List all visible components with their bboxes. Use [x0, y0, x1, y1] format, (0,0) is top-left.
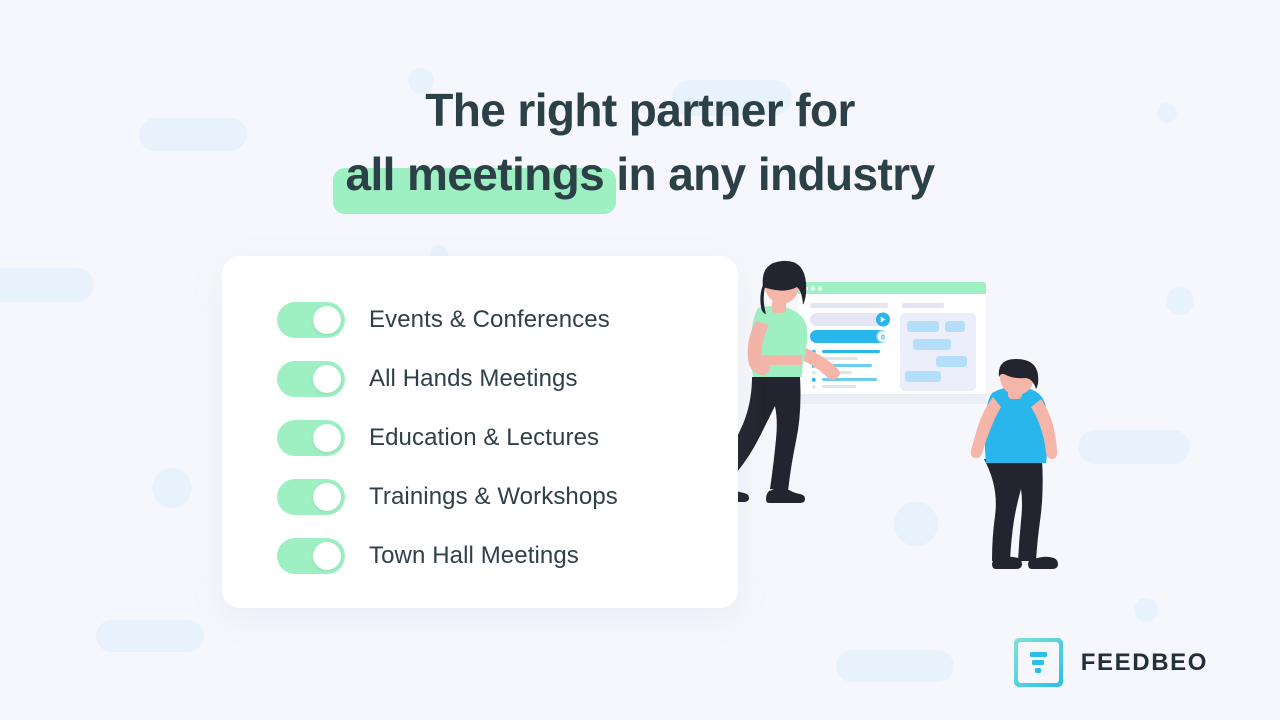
toggle-switch-trainings-workshops[interactable]	[277, 479, 345, 515]
list-item-label: Trainings & Workshops	[369, 483, 618, 511]
list-item-label: Town Hall Meetings	[369, 542, 579, 570]
mark-bar-middle	[1032, 660, 1044, 665]
toggle-knob	[313, 424, 341, 452]
list-item[interactable]: Town Hall Meetings	[222, 526, 738, 585]
list-item[interactable]: Events & Conferences	[222, 290, 738, 349]
headline-line-1: The right partner for	[0, 78, 1280, 142]
feedbeo-bars-icon	[1014, 638, 1063, 687]
headline-line-2: all meetings in any industry	[0, 142, 1280, 206]
toggle-knob	[313, 483, 341, 511]
browser-window-mockup: 0	[798, 282, 986, 404]
toggle-switch-education-lectures[interactable]	[277, 420, 345, 456]
list-item-label: All Hands Meetings	[369, 365, 578, 393]
decor-circle	[1166, 287, 1194, 315]
decor-pill	[96, 620, 204, 652]
toggle-knob	[313, 542, 341, 570]
mark-bar-top	[1030, 652, 1047, 657]
toggle-knob	[313, 306, 341, 334]
headline-highlight: all meetings	[345, 142, 604, 206]
mark-bar-bottom	[1035, 668, 1041, 673]
list-item[interactable]: All Hands Meetings	[222, 349, 738, 408]
list-item[interactable]: Trainings & Workshops	[222, 467, 738, 526]
toggle-switch-all-hands-meetings[interactable]	[277, 361, 345, 397]
toggle-switch-events-conferences[interactable]	[277, 302, 345, 338]
brand-name: FEEDBEO	[1081, 649, 1208, 677]
svg-text:0: 0	[881, 334, 885, 341]
toggle-knob	[313, 365, 341, 393]
hero-illustration: 0	[700, 255, 1120, 625]
list-item-label: Events & Conferences	[369, 306, 610, 334]
decor-circle	[1134, 598, 1158, 622]
brand-logo: FEEDBEO	[1014, 638, 1208, 687]
toggle-switch-town-hall-meetings[interactable]	[277, 538, 345, 574]
list-item[interactable]: Education & Lectures	[222, 408, 738, 467]
brand-mark-inner	[1018, 642, 1059, 683]
meeting-types-card: Events & Conferences All Hands Meetings …	[222, 256, 738, 608]
decor-circle	[152, 468, 192, 508]
list-item-label: Education & Lectures	[369, 424, 599, 452]
decor-pill	[836, 650, 954, 682]
page-title: The right partner for all meetings in an…	[0, 78, 1280, 206]
headline-line-2-rest: in any industry	[604, 148, 934, 200]
decor-pill	[0, 268, 94, 302]
